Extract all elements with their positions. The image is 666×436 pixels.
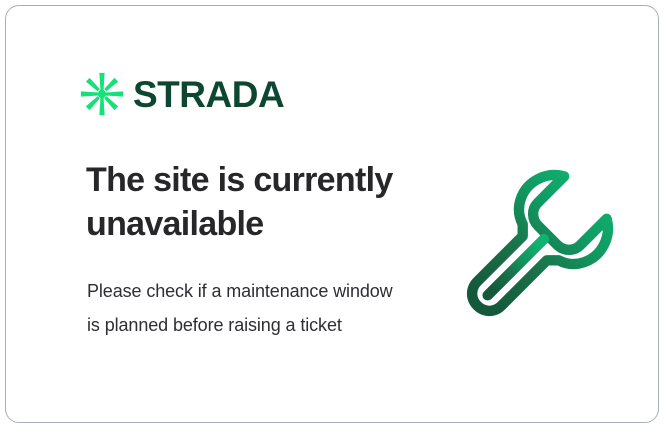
maintenance-card: STRADA The site is currently unavailable… xyxy=(5,5,659,423)
page-title: The site is currently unavailable xyxy=(86,158,416,246)
page-description: Please check if a maintenance window is … xyxy=(87,274,407,342)
brand-name: STRADA xyxy=(133,76,284,113)
wrench-icon xyxy=(461,163,619,321)
brand-logo: STRADA xyxy=(80,72,284,116)
error-page: STRADA The site is currently unavailable… xyxy=(0,0,666,436)
asterisk-starburst-icon xyxy=(80,72,124,116)
